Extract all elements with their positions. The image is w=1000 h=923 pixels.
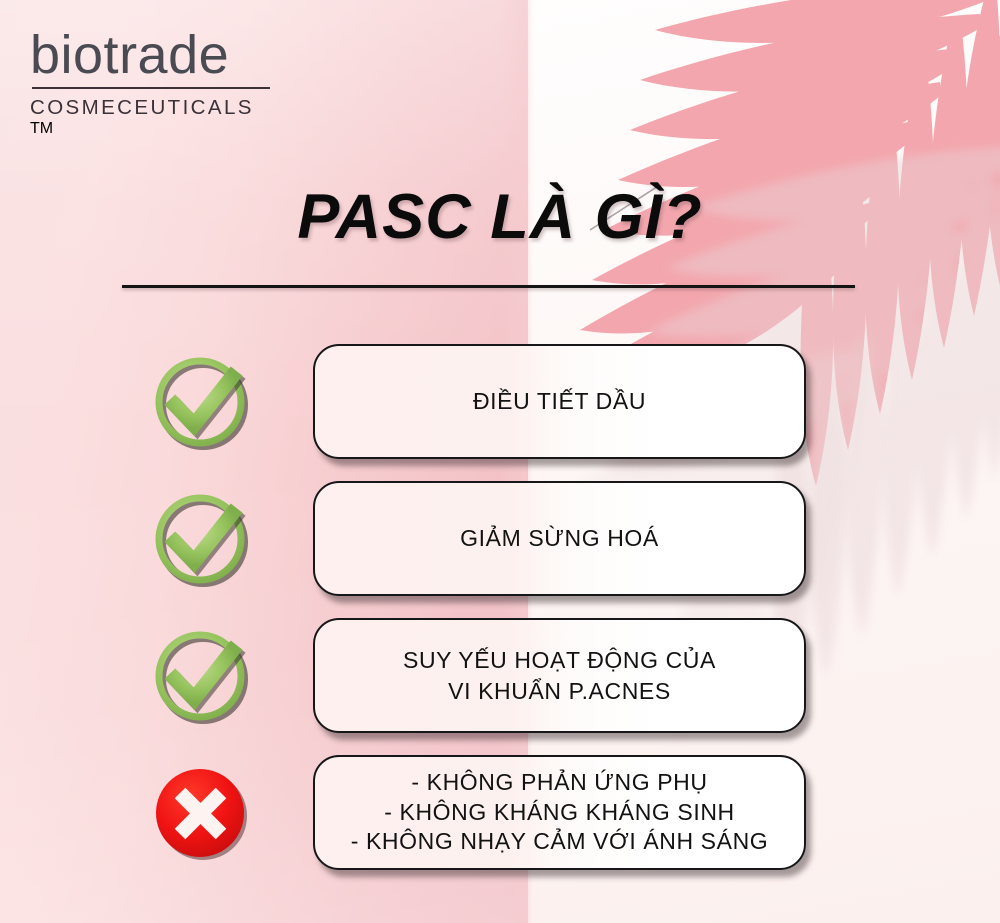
benefit-line: VI KHUẨN P.ACNES (403, 676, 716, 706)
benefit-pill: GIẢM SỪNG HOÁ (313, 481, 806, 596)
benefit-text: GIẢM SỪNG HOÁ (446, 523, 673, 553)
benefit-line: - KHÔNG PHẢN ỨNG PHỤ (351, 768, 769, 798)
check-circle-icon (150, 351, 252, 453)
benefit-pill: SUY YẾU HOẠT ĐỘNG CỦA VI KHUẨN P.ACNES (313, 618, 806, 733)
benefit-text: SUY YẾU HOẠT ĐỘNG CỦA VI KHUẨN P.ACNES (389, 645, 730, 706)
benefit-pill: ĐIỀU TIẾT DẦU (313, 344, 806, 459)
benefit-line: - KHÔNG KHÁNG KHÁNG SINH (351, 798, 769, 828)
benefit-line: SUY YẾU HOẠT ĐỘNG CỦA (403, 645, 716, 675)
benefit-line: ĐIỀU TIẾT DẦU (473, 386, 646, 416)
title-divider (122, 285, 855, 288)
benefit-rows: ĐIỀU TIẾT DẦU GIẢM SỪNG HOÁ (0, 344, 1000, 870)
brand-name: biotrade (30, 28, 275, 82)
benefit-line: GIẢM SỪNG HOÁ (460, 523, 659, 553)
benefit-text: ĐIỀU TIẾT DẦU (459, 386, 660, 416)
benefit-row: ĐIỀU TIẾT DẦU (0, 344, 1000, 459)
brand-tagline: COSMECEUTICALS (30, 96, 275, 120)
benefit-row: GIẢM SỪNG HOÁ (0, 481, 1000, 596)
brand-logo: biotrade COSMECEUTICALS TM (30, 28, 275, 138)
poster-root: biotrade COSMECEUTICALS TM PASC LÀ GÌ? (0, 0, 1000, 923)
trademark-mark: TM (30, 120, 53, 137)
benefit-pill: - KHÔNG PHẢN ỨNG PHỤ - KHÔNG KHÁNG KHÁNG… (313, 755, 806, 870)
benefit-row: SUY YẾU HOẠT ĐỘNG CỦA VI KHUẨN P.ACNES (0, 618, 1000, 733)
logo-divider-rule (32, 87, 270, 89)
page-title: PASC LÀ GÌ? (0, 181, 1000, 253)
benefit-line: - KHÔNG NHẠY CẢM VỚI ÁNH SÁNG (351, 827, 769, 857)
cross-circle-icon (150, 762, 252, 864)
check-circle-icon (150, 488, 252, 590)
benefit-row: - KHÔNG PHẢN ỨNG PHỤ - KHÔNG KHÁNG KHÁNG… (0, 755, 1000, 870)
check-circle-icon (150, 625, 252, 727)
benefit-text: - KHÔNG PHẢN ỨNG PHỤ - KHÔNG KHÁNG KHÁNG… (337, 768, 783, 858)
